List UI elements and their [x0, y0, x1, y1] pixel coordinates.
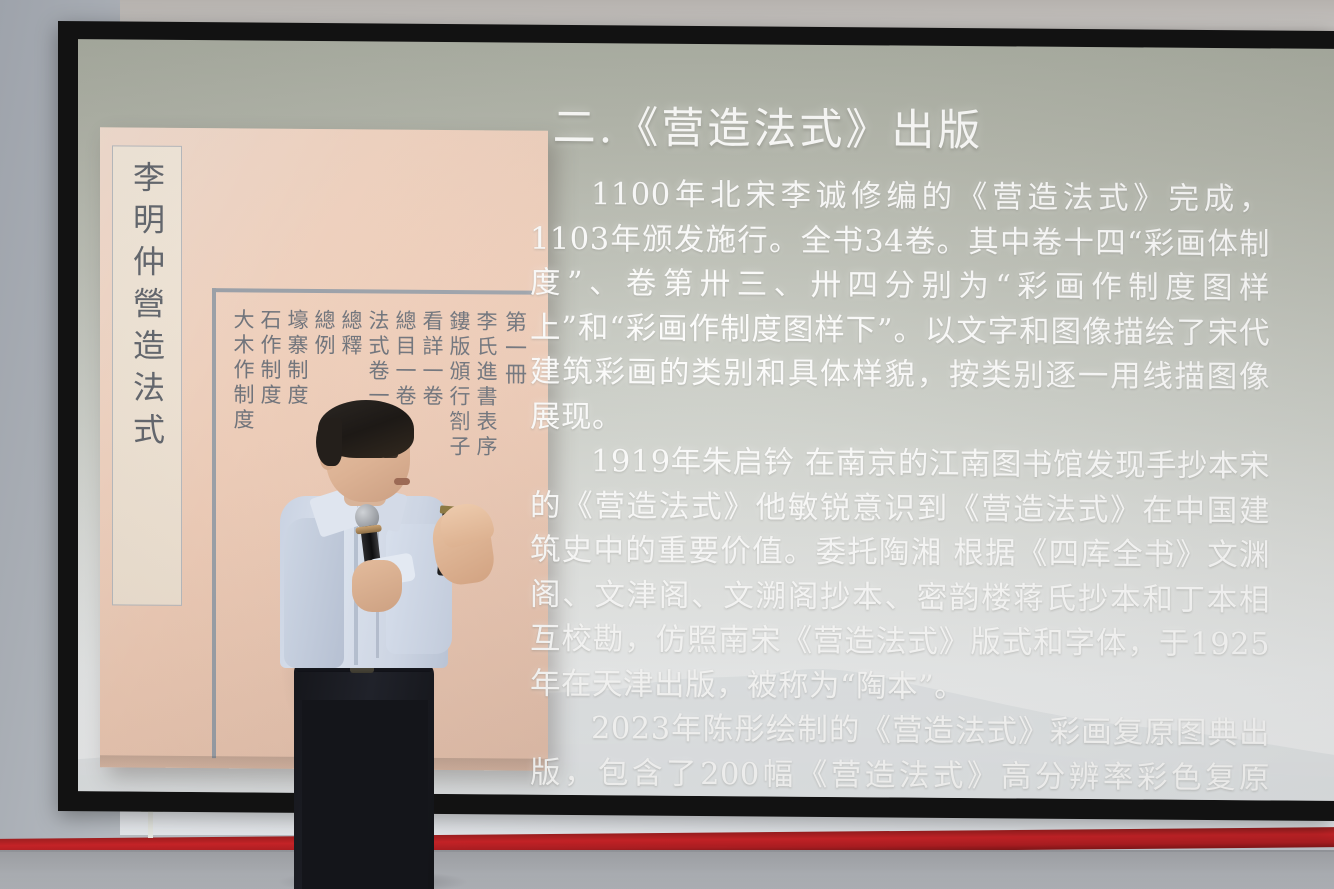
slide-paragraph-3: 2023年陈彤绘制的《营造法式》彩画复原图典出版，包含了200幅《营造法式》高分… — [530, 707, 1270, 801]
floor-reflection — [0, 852, 1334, 889]
presenter-sideburn — [316, 418, 342, 466]
presenter-trousers-leg — [302, 700, 428, 889]
slide-title: 二.《营造法式》出版 — [418, 92, 1118, 159]
presenter-left-arm — [284, 518, 344, 668]
book-spine-text: 李明仲營造法式 — [131, 160, 163, 454]
book-spine-label: 李明仲營造法式 — [112, 145, 182, 606]
presenter-hand-holding-microphone — [352, 560, 402, 612]
presenter-mouth — [394, 478, 410, 485]
wall-cable — [148, 808, 153, 838]
slide-paragraph-1: 1100年北宋李诚修编的《营造法式》完成，1103年颁发施行。全书34卷。其中卷… — [530, 173, 1270, 446]
slide-paragraph-2: 1919年朱启钤 在南京的江南图书馆发现手抄本宋的《营造法式》他敏锐意识到《营造… — [530, 440, 1270, 713]
screenshot-root: 李明仲營造法式 第一冊 李氏進書表序 鏤版頒行劄子 看詳一卷 總目一卷 法式卷一… — [0, 0, 1334, 889]
slide-body-text: 1100年北宋李诚修编的《营造法式》完成，1103年颁发施行。全书34卷。其中卷… — [530, 173, 1270, 801]
presenter — [258, 400, 558, 889]
